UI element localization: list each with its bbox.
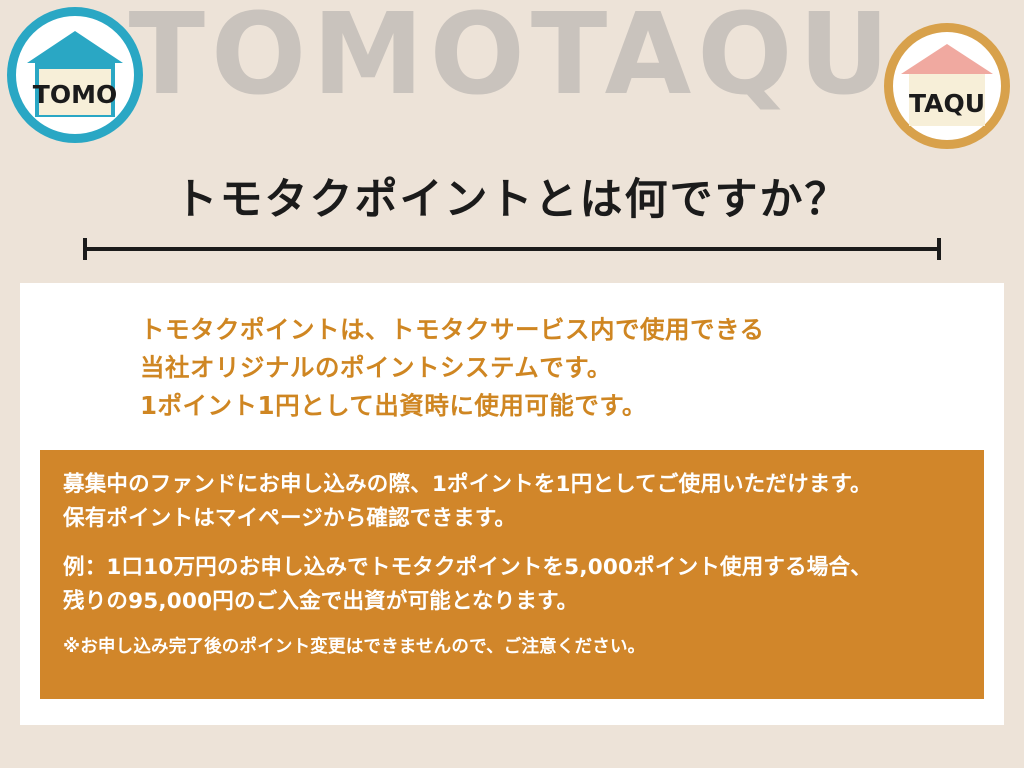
brand-wordmark: TOMOTAQU <box>0 0 1024 120</box>
svg-text:TAQU: TAQU <box>909 89 985 118</box>
svg-text:TOMO: TOMO <box>33 80 117 109</box>
house-icon: TOMO <box>23 29 127 121</box>
taqu-house-logo: TAQU <box>884 23 1010 149</box>
slide: TOMOTAQU TOMO TAQU トモタクポイントとは何ですか？ トモタクポ… <box>0 0 1024 768</box>
lead-paragraph: トモタクポイントは、トモタクサービス内で使用できる 当社オリジナルのポイントシス… <box>140 311 970 425</box>
page-title-text: トモタクポイントとは何ですか？ <box>0 170 1024 230</box>
panel-note: ※お申し込み完了後のポイント変更はできませんので、ご注意ください。 <box>63 634 963 660</box>
panel-example-line-1: 例：1口10万円のお申し込みでトモタクポイントを5,000ポイント使用する場合、 <box>63 551 963 585</box>
lead-line-3: 1ポイント1円として出資時に使用可能です。 <box>140 387 970 425</box>
title-underline <box>83 247 941 251</box>
panel-main-line-2: 保有ポイントはマイページから確認できます。 <box>63 502 963 536</box>
lead-line-2: 当社オリジナルのポイントシステムです。 <box>140 349 970 387</box>
panel-main-text: 募集中のファンドにお申し込みの際、1ポイントを1円としてご使用いただけます。 保… <box>63 468 963 536</box>
panel-example-line-2: 残りの95,000円のご入金で出資が可能となります。 <box>63 585 963 619</box>
page-title: トモタクポイントとは何ですか？ <box>0 170 1024 260</box>
highlight-panel: 募集中のファンドにお申し込みの際、1ポイントを1円としてご使用いただけます。 保… <box>40 450 984 699</box>
panel-main-line-1: 募集中のファンドにお申し込みの際、1ポイントを1円としてご使用いただけます。 <box>63 468 963 502</box>
lead-line-1: トモタクポイントは、トモタクサービス内で使用できる <box>140 311 970 349</box>
tomo-house-logo: TOMO <box>7 7 143 143</box>
header-band: TOMOTAQU TOMO TAQU <box>0 0 1024 163</box>
panel-example-text: 例：1口10万円のお申し込みでトモタクポイントを5,000ポイント使用する場合、… <box>63 551 963 619</box>
house-icon: TAQU <box>898 42 996 130</box>
content-card: トモタクポイントは、トモタクサービス内で使用できる 当社オリジナルのポイントシス… <box>20 283 1004 725</box>
